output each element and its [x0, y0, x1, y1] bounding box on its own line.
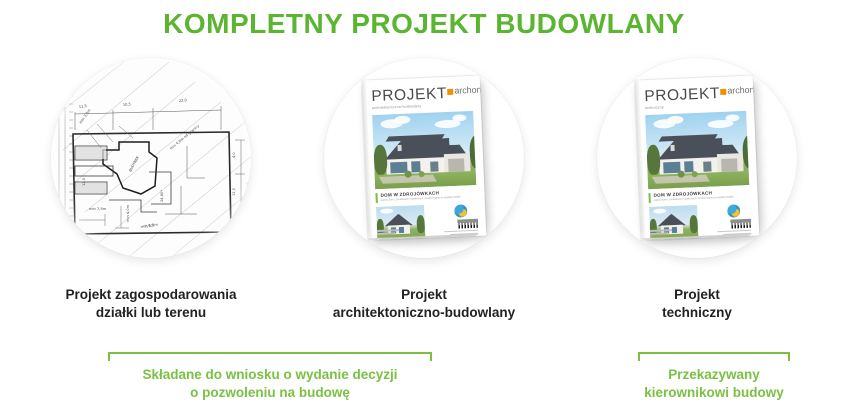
archon-logo-text: archon	[454, 86, 481, 96]
caption-technical-project: Projekt techniczny	[662, 286, 732, 322]
cover-title-strip: DOM W ZDROJÓWKACH Ładny dom z poddaszem …	[648, 189, 749, 203]
svg-text:min 7,5m: min 7,5m	[89, 207, 107, 211]
cover-brand-word: PROJEKT	[644, 86, 720, 105]
column-site-plan: 11,5 10,5 22,0 4,0 12,0 10,2 min 3,0m mi…	[22, 58, 280, 322]
cover-house-photo	[372, 111, 476, 189]
svg-text:12,0: 12,0	[232, 187, 236, 196]
caption-architectural-project: Projekt architektoniczno-budowlany	[333, 286, 515, 322]
svg-text:11,5: 11,5	[79, 104, 87, 109]
svg-text:10,5: 10,5	[123, 102, 131, 107]
caption-site-plan: Projekt zagospodarowania działki lub ter…	[65, 286, 236, 322]
svg-text:12,5: 12,5	[82, 178, 86, 186]
archon-logo: archon	[447, 86, 482, 96]
svg-text:4,0: 4,0	[232, 152, 236, 158]
circle-media-architectural-cover: PROJEKT architektoniczno-budowlany archo…	[324, 58, 524, 258]
svg-text:305: 305	[239, 106, 246, 113]
cover-header: PROJEKT techniczny archon	[644, 85, 746, 110]
column-technical-project: PROJEKT techniczny archon	[568, 58, 826, 322]
svg-text:min 3,0m: min 3,0m	[79, 108, 92, 125]
column-architectural-project: PROJEKT architektoniczno-budowlany archo…	[295, 58, 553, 322]
cover-house-photo	[645, 111, 749, 189]
certification-seal-icon	[727, 204, 741, 218]
bracket-right	[638, 352, 790, 361]
svg-text:22,0: 22,0	[179, 98, 188, 103]
certification-seal-icon	[454, 204, 468, 218]
svg-text:7,5m: 7,5m	[144, 223, 154, 229]
circle-media-site-plan: 11,5 10,5 22,0 4,0 12,0 10,2 min 3,0m mi…	[51, 58, 251, 258]
page-title: KOMPLETNY PROJEKT BUDOWLANY	[0, 8, 848, 40]
svg-text:min 4,0m: min 4,0m	[126, 204, 130, 222]
archon-logo-text: archon	[727, 86, 754, 96]
svg-text:BUDYNEK: BUDYNEK	[128, 155, 140, 173]
note-right: Przekazywany kierownikowi budowy	[594, 366, 834, 402]
cover-thumbnail-photo	[649, 205, 698, 241]
svg-text:307: 307	[245, 180, 251, 187]
svg-text:24,60*: 24,60*	[160, 190, 164, 202]
book-cover-technical: PROJEKT techniczny archon	[635, 76, 760, 241]
book-cover-architectural: PROJEKT architektoniczno-budowlany archo…	[362, 76, 487, 241]
cover-brand-word: PROJEKT	[371, 86, 447, 105]
note-left: Składane do wniosku o wydanie decyzji o …	[60, 366, 480, 402]
site-plan-drawing: 11,5 10,5 22,0 4,0 12,0 10,2 min 3,0m mi…	[51, 58, 251, 258]
cover-thumbnail-photo	[376, 205, 425, 241]
cover-header: PROJEKT architektoniczno-budowlany archo…	[371, 85, 473, 110]
archon-logo: archon	[720, 86, 755, 96]
archon-logo-mark-icon	[447, 88, 453, 94]
barcode-icon	[731, 218, 751, 228]
bracket-left	[108, 352, 432, 361]
svg-text:10,2: 10,2	[232, 222, 236, 230]
svg-text:306: 306	[51, 238, 52, 244]
columns-container: 11,5 10,5 22,0 4,0 12,0 10,2 min 3,0m mi…	[0, 58, 848, 322]
cover-title-strip: DOM W ZDROJÓWKACH Ładny dom z poddaszem …	[375, 189, 476, 203]
barcode-icon	[458, 218, 478, 228]
circle-media-technical-cover: PROJEKT techniczny archon	[597, 58, 797, 258]
svg-text:min 4,0m od granicy: min 4,0m od granicy	[169, 123, 201, 151]
archon-logo-mark-icon	[720, 88, 726, 94]
